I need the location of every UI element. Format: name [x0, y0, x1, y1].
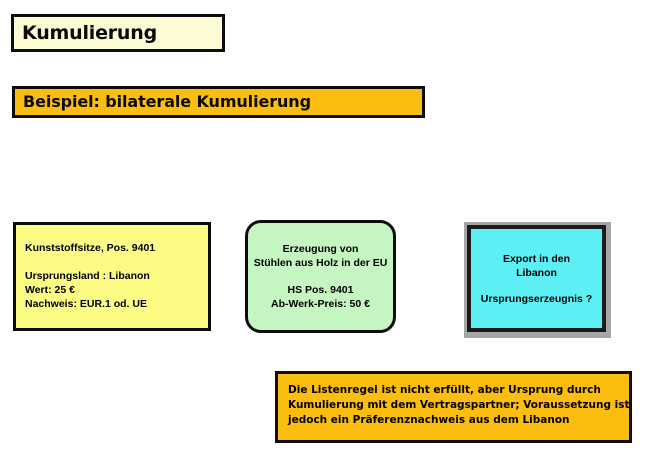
production-line-activity: Erzeugung von — [283, 242, 359, 256]
export-line-question: Ursprungserzeugnis ? — [481, 292, 592, 306]
production-line-hs: HS Pos. 9401 — [288, 283, 354, 297]
export-box: Export in den Libanon Ursprungserzeugnis… — [467, 225, 606, 332]
subtitle-text: Beispiel: bilaterale Kumulierung — [23, 94, 311, 110]
input-line-origin: Ursprungsland : Libanon — [25, 269, 208, 283]
input-line-value: Wert: 25 € — [25, 283, 208, 297]
export-box-frame: Export in den Libanon Ursprungserzeugnis… — [464, 222, 611, 338]
note-line-2: Kumulierung mit dem Vertragspartner; Vor… — [288, 398, 629, 413]
slide-title-box: Kumulierung — [11, 14, 225, 52]
export-line-destination-1: Export in den — [503, 252, 570, 266]
spacer — [25, 255, 208, 269]
input-line-proof: Nachweis: EUR.1 od. UE — [25, 297, 208, 311]
slide-subtitle-box: Beispiel: bilaterale Kumulierung — [12, 86, 425, 118]
production-line-price: Ab-Werk-Preis: 50 € — [271, 297, 370, 311]
note-line-1: Die Listenregel ist nicht erfüllt, aber … — [288, 383, 629, 398]
slide-canvas: Kumulierung Beispiel: bilaterale Kumulie… — [0, 0, 650, 469]
note-line-3: jedoch ein Präferenznachweis aus dem Lib… — [288, 413, 629, 428]
page-title: Kumulierung — [22, 24, 157, 43]
input-line-product: Kunststoffsitze, Pos. 9401 — [25, 241, 208, 255]
conclusion-note-box: Die Listenregel ist nicht erfüllt, aber … — [275, 371, 632, 443]
production-line-detail: Stühlen aus Holz in der EU — [254, 256, 388, 270]
production-box: Erzeugung von Stühlen aus Holz in der EU… — [245, 220, 396, 333]
input-material-box: Kunststoffsitze, Pos. 9401 Ursprungsland… — [13, 222, 211, 331]
export-line-destination-2: Libanon — [516, 266, 557, 280]
